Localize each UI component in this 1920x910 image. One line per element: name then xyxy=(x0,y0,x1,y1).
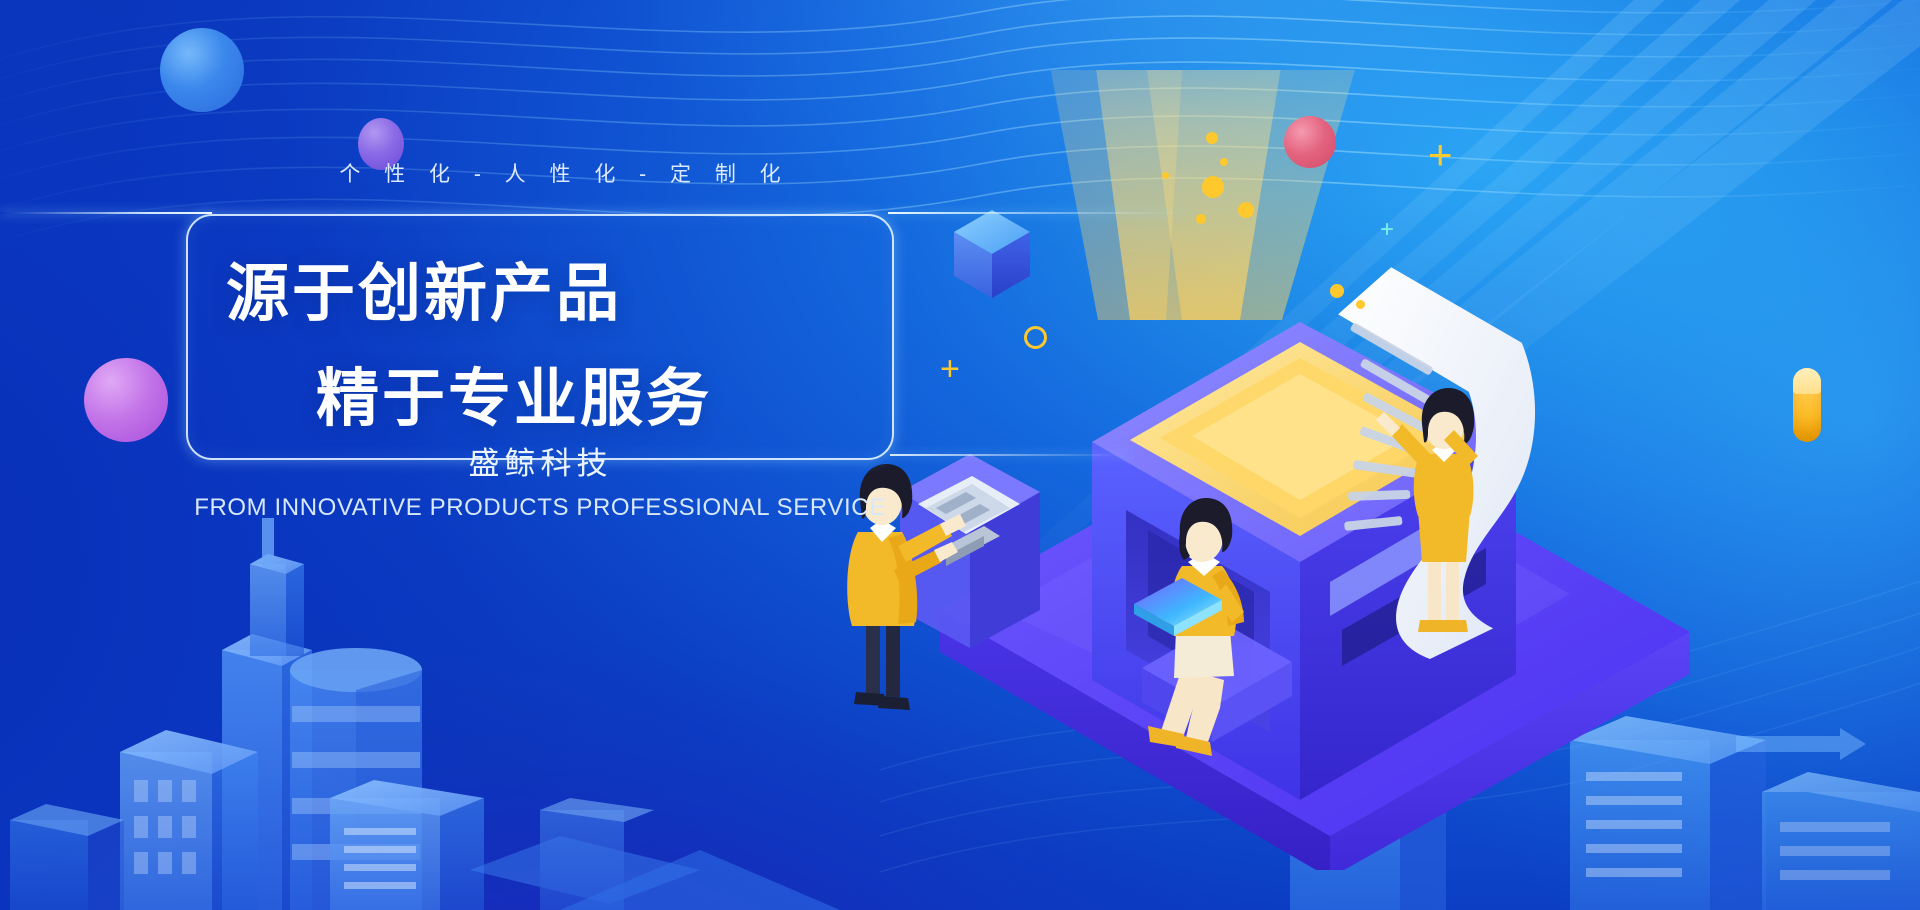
eyebrow-text: 个 性 化 - 人 性 化 - 定 制 化 xyxy=(300,158,820,188)
headline-line-1: 源于创新产品 xyxy=(226,243,930,334)
frame-accent-line-left xyxy=(0,212,212,214)
hero-banner: + + + 个 性 化 - 人 性 化 - 定 制 化 源于创新产品 精于专业服… xyxy=(0,0,1920,910)
golden-light-beam xyxy=(1028,70,1390,320)
headline-line-2: 精于专业服务 xyxy=(316,348,1020,439)
frame-accent-line-bottom xyxy=(890,454,1130,456)
frame-accent-line-right xyxy=(888,212,1188,214)
company-name: 盛鲸科技 xyxy=(186,438,890,483)
hero-content: 个 性 化 - 人 性 化 - 定 制 化 源于创新产品 精于专业服务 盛鲸科技… xyxy=(0,0,1000,910)
tagline-english: FROM INNOVATIVE PRODUCTS PROFESSIONAL SE… xyxy=(120,494,960,522)
